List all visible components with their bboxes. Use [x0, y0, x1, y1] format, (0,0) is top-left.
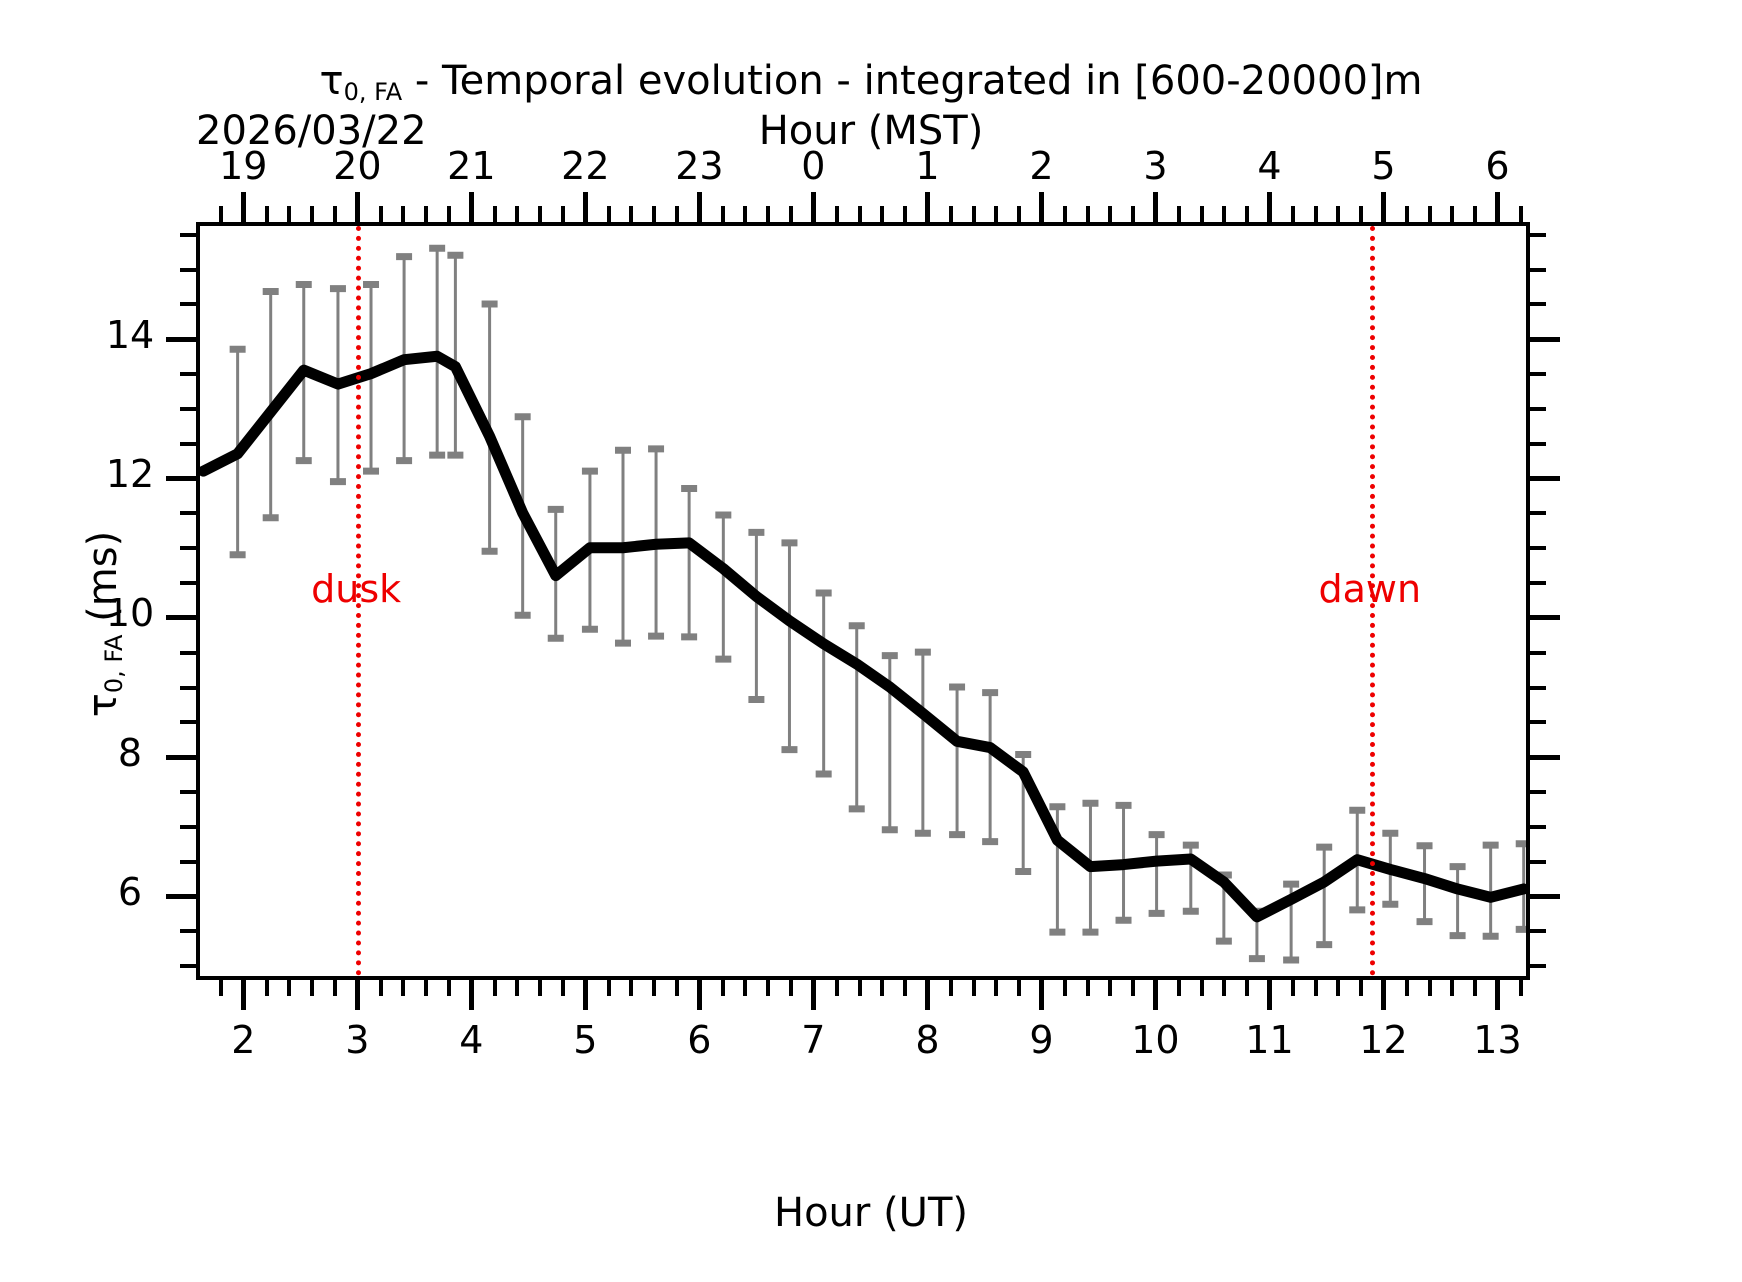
top-minor-tick [561, 206, 565, 226]
y-minor-tick [180, 929, 200, 933]
error-bar [816, 593, 832, 774]
top-minor-tick [766, 206, 770, 226]
y-minor-tick [180, 860, 200, 864]
x-major-tick [1381, 976, 1386, 1010]
x-minor-tick [629, 976, 633, 996]
x-major-tick [1267, 976, 1272, 1010]
x-minor-tick [379, 976, 383, 996]
y-right-major-tick [1526, 615, 1560, 620]
y-tick-label: 6 [118, 870, 142, 914]
top-minor-tick [1131, 206, 1135, 226]
y-minor-tick [180, 825, 200, 829]
chart-title: τ0, FA - Temporal evolution - integrated… [0, 58, 1742, 106]
x-minor-tick [1245, 976, 1249, 996]
y-right-minor-tick [1526, 929, 1546, 933]
x-minor-tick [675, 976, 679, 996]
top-minor-tick [1063, 206, 1067, 226]
top-minor-tick [675, 206, 679, 226]
top-minor-tick [629, 206, 633, 226]
top-tick-label: 3 [1143, 144, 1167, 188]
x-minor-tick [561, 976, 565, 996]
x-minor-tick [333, 976, 337, 996]
x-minor-tick [1336, 976, 1340, 996]
x-minor-tick [766, 976, 770, 996]
error-bar [949, 687, 965, 835]
top-minor-tick [1359, 206, 1363, 226]
x-major-tick [1039, 976, 1044, 1010]
y-right-major-tick [1526, 755, 1560, 760]
ylabel-tau-symbol: τ [80, 693, 126, 717]
top-minor-tick [949, 206, 953, 226]
top-minor-tick [538, 206, 542, 226]
x-minor-tick [1450, 976, 1454, 996]
y-right-minor-tick [1526, 511, 1546, 515]
top-major-tick [1153, 192, 1158, 226]
x-tick-label: 12 [1359, 1018, 1407, 1062]
top-major-tick [355, 192, 360, 226]
top-minor-tick [789, 206, 793, 226]
x-major-tick [583, 976, 588, 1010]
x-tick-label: 10 [1131, 1018, 1179, 1062]
y-minor-tick [180, 720, 200, 724]
top-minor-tick [379, 206, 383, 226]
top-tick-label: 23 [675, 144, 723, 188]
top-minor-tick [493, 206, 497, 226]
top-minor-tick [652, 206, 656, 226]
top-major-tick [1495, 192, 1500, 226]
error-bar [1316, 847, 1332, 944]
y-minor-tick [180, 686, 200, 690]
y-right-major-tick [1526, 894, 1560, 899]
top-minor-tick [1108, 206, 1112, 226]
top-minor-tick [858, 206, 862, 226]
top-minor-tick [447, 206, 451, 226]
error-bar [1450, 867, 1466, 936]
top-minor-tick [401, 206, 405, 226]
y-minor-tick [180, 268, 200, 272]
y-major-tick [166, 337, 200, 342]
y-minor-tick [180, 372, 200, 376]
x-minor-tick [538, 976, 542, 996]
y-right-minor-tick [1526, 790, 1546, 794]
top-tick-label: 4 [1257, 144, 1281, 188]
top-major-tick [1039, 192, 1044, 226]
y-minor-tick [180, 651, 200, 655]
y-right-minor-tick [1526, 407, 1546, 411]
x-minor-tick [515, 976, 519, 996]
top-minor-tick [835, 206, 839, 226]
y-right-minor-tick [1526, 546, 1546, 550]
title-rest: - Temporal evolution - integrated in [60… [402, 58, 1422, 104]
top-tick-label: 1 [915, 144, 939, 188]
x-minor-tick [1017, 976, 1021, 996]
x-minor-tick [972, 976, 976, 996]
top-tick-label: 21 [447, 144, 495, 188]
top-minor-tick [972, 206, 976, 226]
top-major-tick [925, 192, 930, 226]
top-minor-tick [1473, 206, 1477, 226]
x-minor-tick [994, 976, 998, 996]
y-major-tick [166, 615, 200, 620]
y-right-minor-tick [1526, 825, 1546, 829]
x-major-tick [469, 976, 474, 1010]
top-minor-tick [1314, 206, 1318, 226]
top-minor-tick [219, 206, 223, 226]
error-bar [915, 652, 931, 833]
error-bar [849, 626, 865, 809]
top-tick-label: 2 [1029, 144, 1053, 188]
x-tick-label: 4 [459, 1018, 483, 1062]
top-major-tick [1381, 192, 1386, 226]
x-minor-tick [607, 976, 611, 996]
top-minor-tick [265, 206, 269, 226]
error-bar [715, 515, 731, 659]
top-minor-tick [1519, 206, 1523, 226]
x-major-tick [1153, 976, 1158, 1010]
y-right-minor-tick [1526, 720, 1546, 724]
top-major-tick [811, 192, 816, 226]
x-minor-tick [1086, 976, 1090, 996]
top-minor-tick [1177, 206, 1181, 226]
x-minor-tick [447, 976, 451, 996]
dusk-label: dusk [311, 567, 401, 611]
top-minor-tick [310, 206, 314, 226]
x-minor-tick [903, 976, 907, 996]
x-minor-tick [743, 976, 747, 996]
y-right-major-tick [1526, 476, 1560, 481]
x-major-tick [697, 976, 702, 1010]
x-tick-label: 5 [573, 1018, 597, 1062]
x-major-tick [355, 976, 360, 1010]
top-minor-tick [1291, 206, 1295, 226]
top-tick-label: 5 [1371, 144, 1395, 188]
top-minor-tick [287, 206, 291, 226]
top-minor-tick [1017, 206, 1021, 226]
y-right-minor-tick [1526, 442, 1546, 446]
y-minor-tick [180, 964, 200, 968]
top-minor-tick [880, 206, 884, 226]
top-minor-tick [1200, 206, 1204, 226]
x-minor-tick [310, 976, 314, 996]
top-minor-tick [424, 206, 428, 226]
title-tau-subscript: 0, FA [344, 78, 403, 106]
x-tick-label: 8 [915, 1018, 939, 1062]
x-minor-tick [652, 976, 656, 996]
top-minor-tick [1428, 206, 1432, 226]
y-minor-tick [180, 233, 200, 237]
top-major-tick [1267, 192, 1272, 226]
top-tick-label: 19 [219, 144, 267, 188]
x-minor-tick [1063, 976, 1067, 996]
top-minor-tick [333, 206, 337, 226]
y-right-minor-tick [1526, 686, 1546, 690]
top-tick-label: 22 [561, 144, 609, 188]
x-minor-tick [1200, 976, 1204, 996]
y-tick-label: 10 [106, 591, 154, 635]
x-minor-tick [287, 976, 291, 996]
y-minor-tick [180, 407, 200, 411]
top-minor-tick [1405, 206, 1409, 226]
y-minor-tick [180, 546, 200, 550]
x-minor-tick [1473, 976, 1477, 996]
x-major-tick [925, 976, 930, 1010]
error-bar [781, 543, 797, 750]
y-major-tick [166, 894, 200, 899]
x-tick-label: 2 [231, 1018, 255, 1062]
y-right-major-tick [1526, 337, 1560, 342]
top-minor-tick [1450, 206, 1454, 226]
error-bar [1149, 835, 1165, 914]
top-minor-tick [1086, 206, 1090, 226]
x-minor-tick [1108, 976, 1112, 996]
x-minor-tick [1222, 976, 1226, 996]
top-minor-tick [1245, 206, 1249, 226]
y-right-minor-tick [1526, 860, 1546, 864]
error-bar [982, 693, 998, 842]
x-minor-tick [721, 976, 725, 996]
y-right-minor-tick [1526, 651, 1546, 655]
data-line [203, 356, 1523, 917]
top-minor-tick [1336, 206, 1340, 226]
top-minor-tick [994, 206, 998, 226]
y-right-minor-tick [1526, 233, 1546, 237]
top-major-tick [583, 192, 588, 226]
top-minor-tick [903, 206, 907, 226]
x-tick-label: 7 [801, 1018, 825, 1062]
y-minor-tick [180, 581, 200, 585]
x-minor-tick [949, 976, 953, 996]
top-minor-tick [515, 206, 519, 226]
x-minor-tick [1314, 976, 1318, 996]
top-tick-label: 6 [1485, 144, 1509, 188]
top-major-tick [469, 192, 474, 226]
x-tick-label: 6 [687, 1018, 711, 1062]
error-bar [447, 255, 463, 455]
x-minor-tick [789, 976, 793, 996]
y-minor-tick [180, 790, 200, 794]
x-minor-tick [1177, 976, 1181, 996]
y-minor-tick [180, 302, 200, 306]
x-major-tick [811, 976, 816, 1010]
top-tick-label: 0 [801, 144, 825, 188]
error-bar [748, 532, 764, 699]
y-right-minor-tick [1526, 372, 1546, 376]
x-tick-label: 13 [1473, 1018, 1521, 1062]
x-minor-tick [835, 976, 839, 996]
top-minor-tick [743, 206, 747, 226]
x-minor-tick [858, 976, 862, 996]
x-minor-tick [1428, 976, 1432, 996]
ylabel-tau-subscript: 0, FA [100, 635, 128, 694]
y-major-tick [166, 476, 200, 481]
x-minor-tick [1131, 976, 1135, 996]
dawn-label: dawn [1319, 567, 1422, 611]
y-tick-label: 8 [118, 731, 142, 775]
x-minor-tick [880, 976, 884, 996]
x-minor-tick [1405, 976, 1409, 996]
y-minor-tick [180, 442, 200, 446]
x-minor-tick [1519, 976, 1523, 996]
x-tick-label: 9 [1029, 1018, 1053, 1062]
x-axis-label: Hour (UT) [0, 1190, 1742, 1236]
x-tick-label: 3 [345, 1018, 369, 1062]
top-minor-tick [721, 206, 725, 226]
x-major-tick [241, 976, 246, 1010]
x-major-tick [1495, 976, 1500, 1010]
top-minor-tick [607, 206, 611, 226]
y-major-tick [166, 755, 200, 760]
title-tau-symbol: τ [320, 58, 344, 104]
y-right-minor-tick [1526, 302, 1546, 306]
x-minor-tick [493, 976, 497, 996]
x-minor-tick [424, 976, 428, 996]
y-right-minor-tick [1526, 581, 1546, 585]
error-bar [681, 489, 697, 637]
y-tick-label: 12 [106, 452, 154, 496]
x-minor-tick [219, 976, 223, 996]
top-major-tick [241, 192, 246, 226]
top-minor-tick [1222, 206, 1226, 226]
top-major-tick [697, 192, 702, 226]
x-minor-tick [401, 976, 405, 996]
x-minor-tick [265, 976, 269, 996]
x-minor-tick [1291, 976, 1295, 996]
x-minor-tick [1359, 976, 1363, 996]
top-tick-label: 20 [333, 144, 381, 188]
y-right-minor-tick [1526, 268, 1546, 272]
y-tick-label: 14 [106, 313, 154, 357]
x-tick-label: 11 [1245, 1018, 1293, 1062]
y-minor-tick [180, 511, 200, 515]
y-right-minor-tick [1526, 964, 1546, 968]
